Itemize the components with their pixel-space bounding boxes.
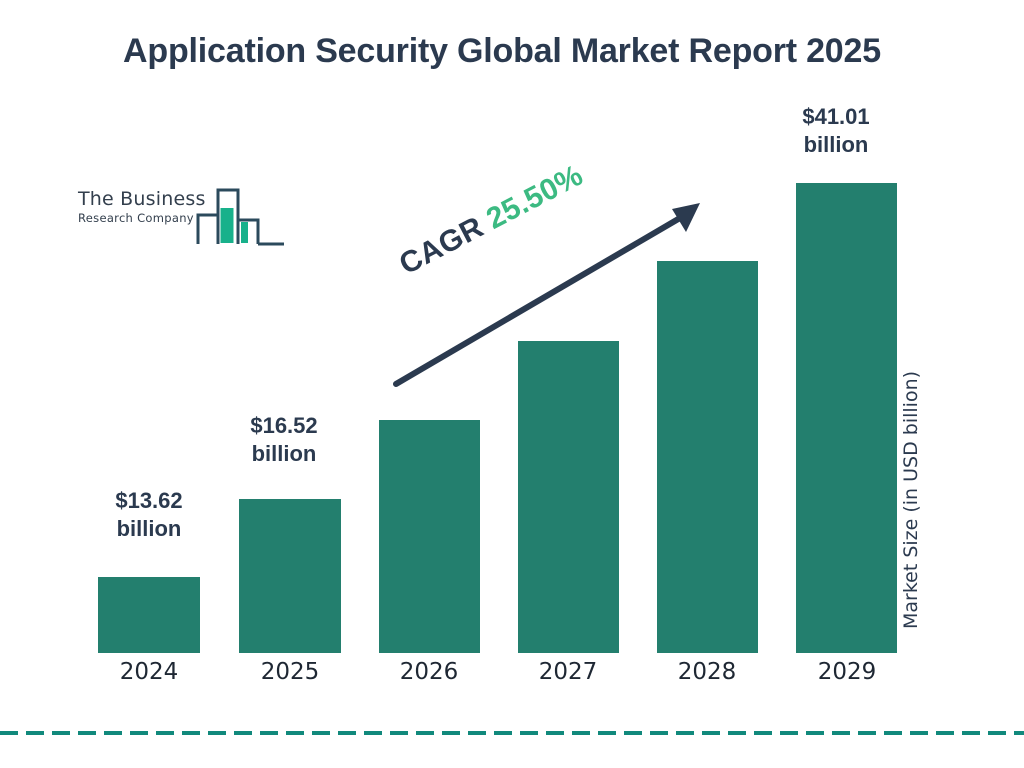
x-tick-2026: 2026 xyxy=(369,659,489,685)
logo-name-line1: The Business xyxy=(78,190,210,209)
cagr-annotation: CAGR 25.50% xyxy=(394,159,589,282)
bar-label-2029-amount: $41.01 xyxy=(776,103,896,131)
y-axis-title-text: Market Size (in USD billion) xyxy=(900,330,922,670)
bar-2029 xyxy=(796,183,897,653)
page-title: Application Security Global Market Repor… xyxy=(62,30,942,73)
logo-name-line2: Research Company xyxy=(78,213,210,225)
x-tick-2029: 2029 xyxy=(787,659,907,685)
cagr-label: CAGR xyxy=(394,211,489,282)
x-tick-2028: 2028 xyxy=(647,659,767,685)
footer-divider xyxy=(0,731,1024,735)
y-axis-title: Market Size (in USD billion) xyxy=(900,0,922,330)
bar-label-2025: $16.52 billion xyxy=(224,412,344,468)
logo-bars-icon xyxy=(196,182,288,248)
bar-label-2024: $13.62 billion xyxy=(89,487,209,543)
bar-2025 xyxy=(239,499,341,653)
bar-label-2024-amount: $13.62 xyxy=(89,487,209,515)
x-tick-2025: 2025 xyxy=(230,659,350,685)
company-logo: The Business Research Company xyxy=(78,182,288,248)
x-tick-2024: 2024 xyxy=(89,659,209,685)
bar-label-2024-unit: billion xyxy=(89,515,209,543)
bar-label-2029: $41.01 billion xyxy=(776,103,896,159)
bar-label-2025-unit: billion xyxy=(224,440,344,468)
logo-wordmark: The Business Research Company xyxy=(78,190,210,225)
bar-2026 xyxy=(379,420,480,653)
bar-2028 xyxy=(657,261,758,653)
chart-canvas: Application Security Global Market Repor… xyxy=(0,0,1024,768)
bar-2024 xyxy=(98,577,200,653)
bar-2027 xyxy=(518,341,619,653)
x-tick-2027: 2027 xyxy=(508,659,628,685)
bar-label-2025-amount: $16.52 xyxy=(224,412,344,440)
bar-label-2029-unit: billion xyxy=(776,131,896,159)
cagr-value: 25.50% xyxy=(481,159,588,236)
